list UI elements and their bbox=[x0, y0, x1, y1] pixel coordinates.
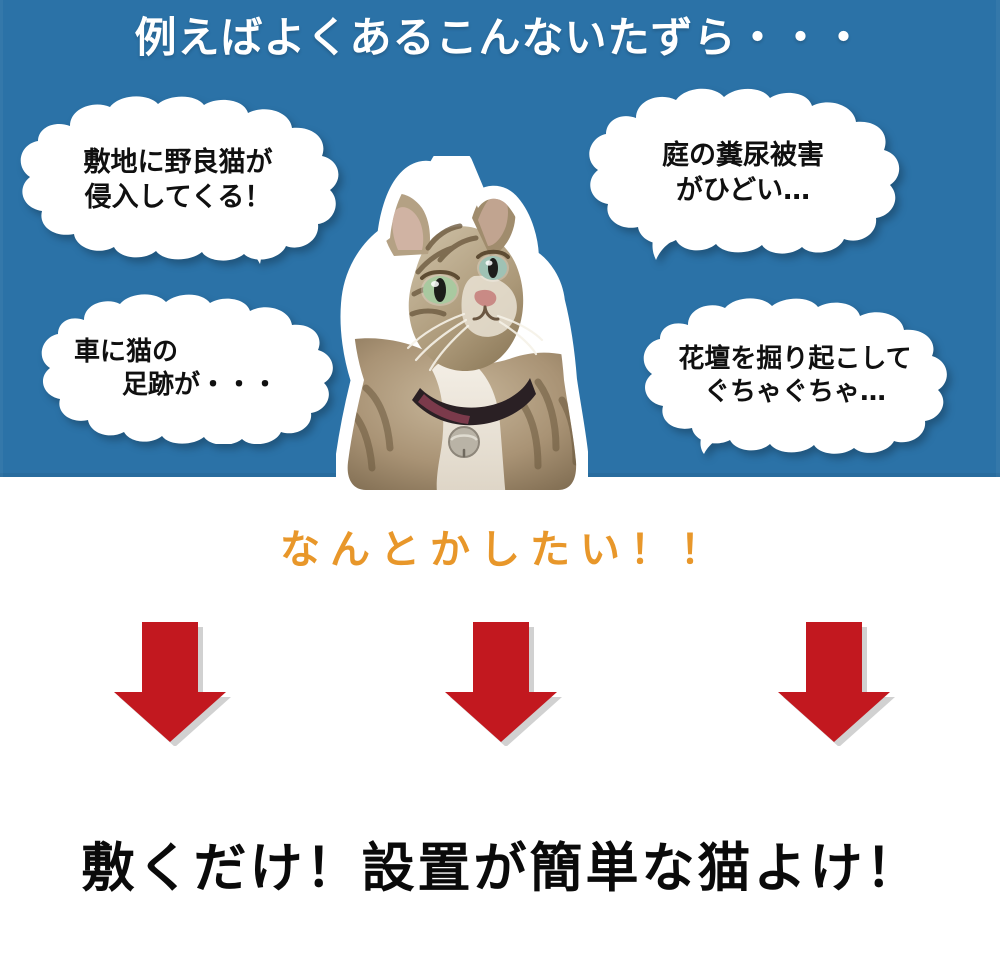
arrow-row bbox=[0, 618, 1000, 750]
speech-bubble-car-pawprints: 車に猫の 足跡が・・・ bbox=[28, 294, 348, 444]
speech-bubble-shape bbox=[8, 96, 348, 266]
speech-bubble-shape bbox=[28, 294, 348, 444]
hero-title: 例えばよくあるこんないたずら・・・ bbox=[0, 14, 1000, 62]
bottom-headline: 敷くだけ！設置が簡単な猫よけ！ bbox=[0, 826, 1000, 902]
speech-bubble-stray-cat-intrusion: 敷地に野良猫が 侵入してくる！ bbox=[8, 96, 348, 266]
cat-photo bbox=[336, 156, 588, 490]
speech-bubble-shape bbox=[578, 88, 908, 260]
page-root: 例えばよくあるこんないたずら・・・ 敷地に野良猫が 侵入してくる！ 庭の糞尿被害… bbox=[0, 0, 1000, 963]
down-arrow-2 bbox=[443, 618, 563, 746]
speech-bubble-shape bbox=[630, 298, 960, 454]
speech-bubble-flowerbed-dug-up: 花壇を掘り起こして ぐちゃぐちゃ… bbox=[630, 298, 960, 454]
down-arrow-3 bbox=[776, 618, 896, 746]
arrow-down-icon bbox=[443, 618, 563, 746]
cat-illustration bbox=[336, 156, 588, 490]
down-arrow-1 bbox=[112, 618, 232, 746]
arrow-down-icon bbox=[776, 618, 896, 746]
slogan-text: なんとかしたい！！ bbox=[0, 517, 1000, 575]
arrow-down-icon bbox=[112, 618, 232, 746]
speech-bubble-garden-feces: 庭の糞尿被害 がひどい… bbox=[578, 88, 908, 260]
